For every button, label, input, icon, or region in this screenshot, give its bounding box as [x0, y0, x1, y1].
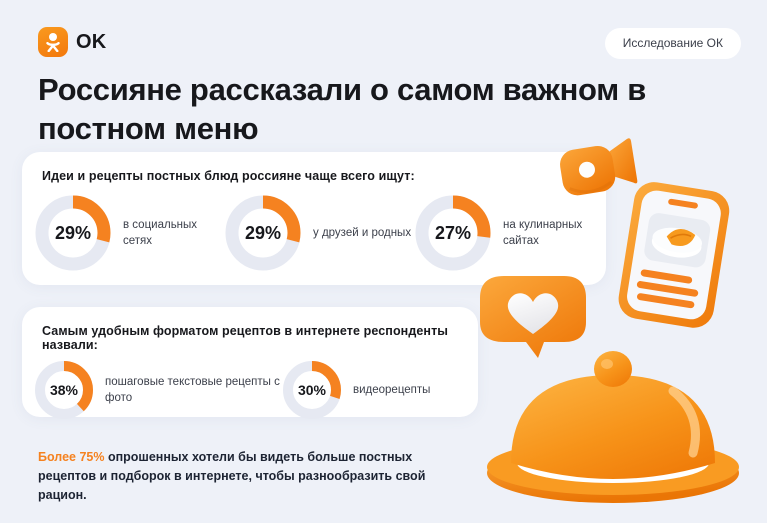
brand-name: OK — [76, 31, 106, 54]
footer-summary: Более 75% опрошенных хотели бы видеть бо… — [38, 448, 468, 505]
donut-chart: 38% — [34, 360, 94, 420]
stat-item: 29% в социальных сетях — [34, 194, 224, 272]
stats-card-search-sources: Идеи и рецепты постных блюд россияне чащ… — [22, 152, 606, 285]
ok-logo-body — [46, 42, 61, 52]
page-title: Россияне рассказали о самом важном в пос… — [38, 70, 718, 148]
ok-logo-head — [49, 33, 57, 41]
card-title: Идеи и рецепты постных блюд россияне чащ… — [22, 152, 606, 183]
brand-logo: OK — [38, 27, 106, 57]
stat-list: 29% в социальных сетях 29% у друзей и ро… — [22, 194, 606, 272]
donut-value: 30% — [282, 360, 342, 420]
research-badge[interactable]: Исследование ОК — [605, 28, 741, 59]
donut-chart: 27% — [414, 194, 492, 272]
donut-value: 29% — [34, 194, 112, 272]
stat-item: 27% на кулинарных сайтах — [414, 194, 604, 272]
donut-chart: 29% — [224, 194, 302, 272]
donut-chart: 29% — [34, 194, 112, 272]
stats-card-recipe-formats: Самым удобным форматом рецептов в интерн… — [22, 307, 478, 417]
donut-value: 29% — [224, 194, 302, 272]
stat-label: в социальных сетях — [123, 217, 224, 250]
heart-speech-bubble-3d-icon — [472, 272, 594, 362]
stat-item: 30% видеорецепты — [282, 360, 430, 420]
card-title: Самым удобным форматом рецептов в интерн… — [22, 307, 478, 352]
stat-item: 29% у друзей и родных — [224, 194, 414, 272]
smartphone-recipe-3d-icon — [601, 173, 747, 336]
stat-label: видеорецепты — [353, 382, 430, 398]
stat-item: 38% пошаговые текстовые рецепты с фото — [34, 360, 282, 420]
ok-logo-icon — [38, 27, 68, 57]
stat-label: на кулинарных сайтах — [503, 217, 604, 250]
donut-value: 38% — [34, 360, 94, 420]
donut-chart: 30% — [282, 360, 342, 420]
stat-label: пошаговые текстовые рецепты с фото — [105, 374, 282, 407]
stat-label: у друзей и родных — [313, 225, 411, 241]
footer-highlight: Более 75% — [38, 450, 104, 464]
cloche-dish-3d-icon — [483, 345, 743, 523]
stat-list: 38% пошаговые текстовые рецепты с фото 3… — [22, 360, 478, 420]
donut-value: 27% — [414, 194, 492, 272]
